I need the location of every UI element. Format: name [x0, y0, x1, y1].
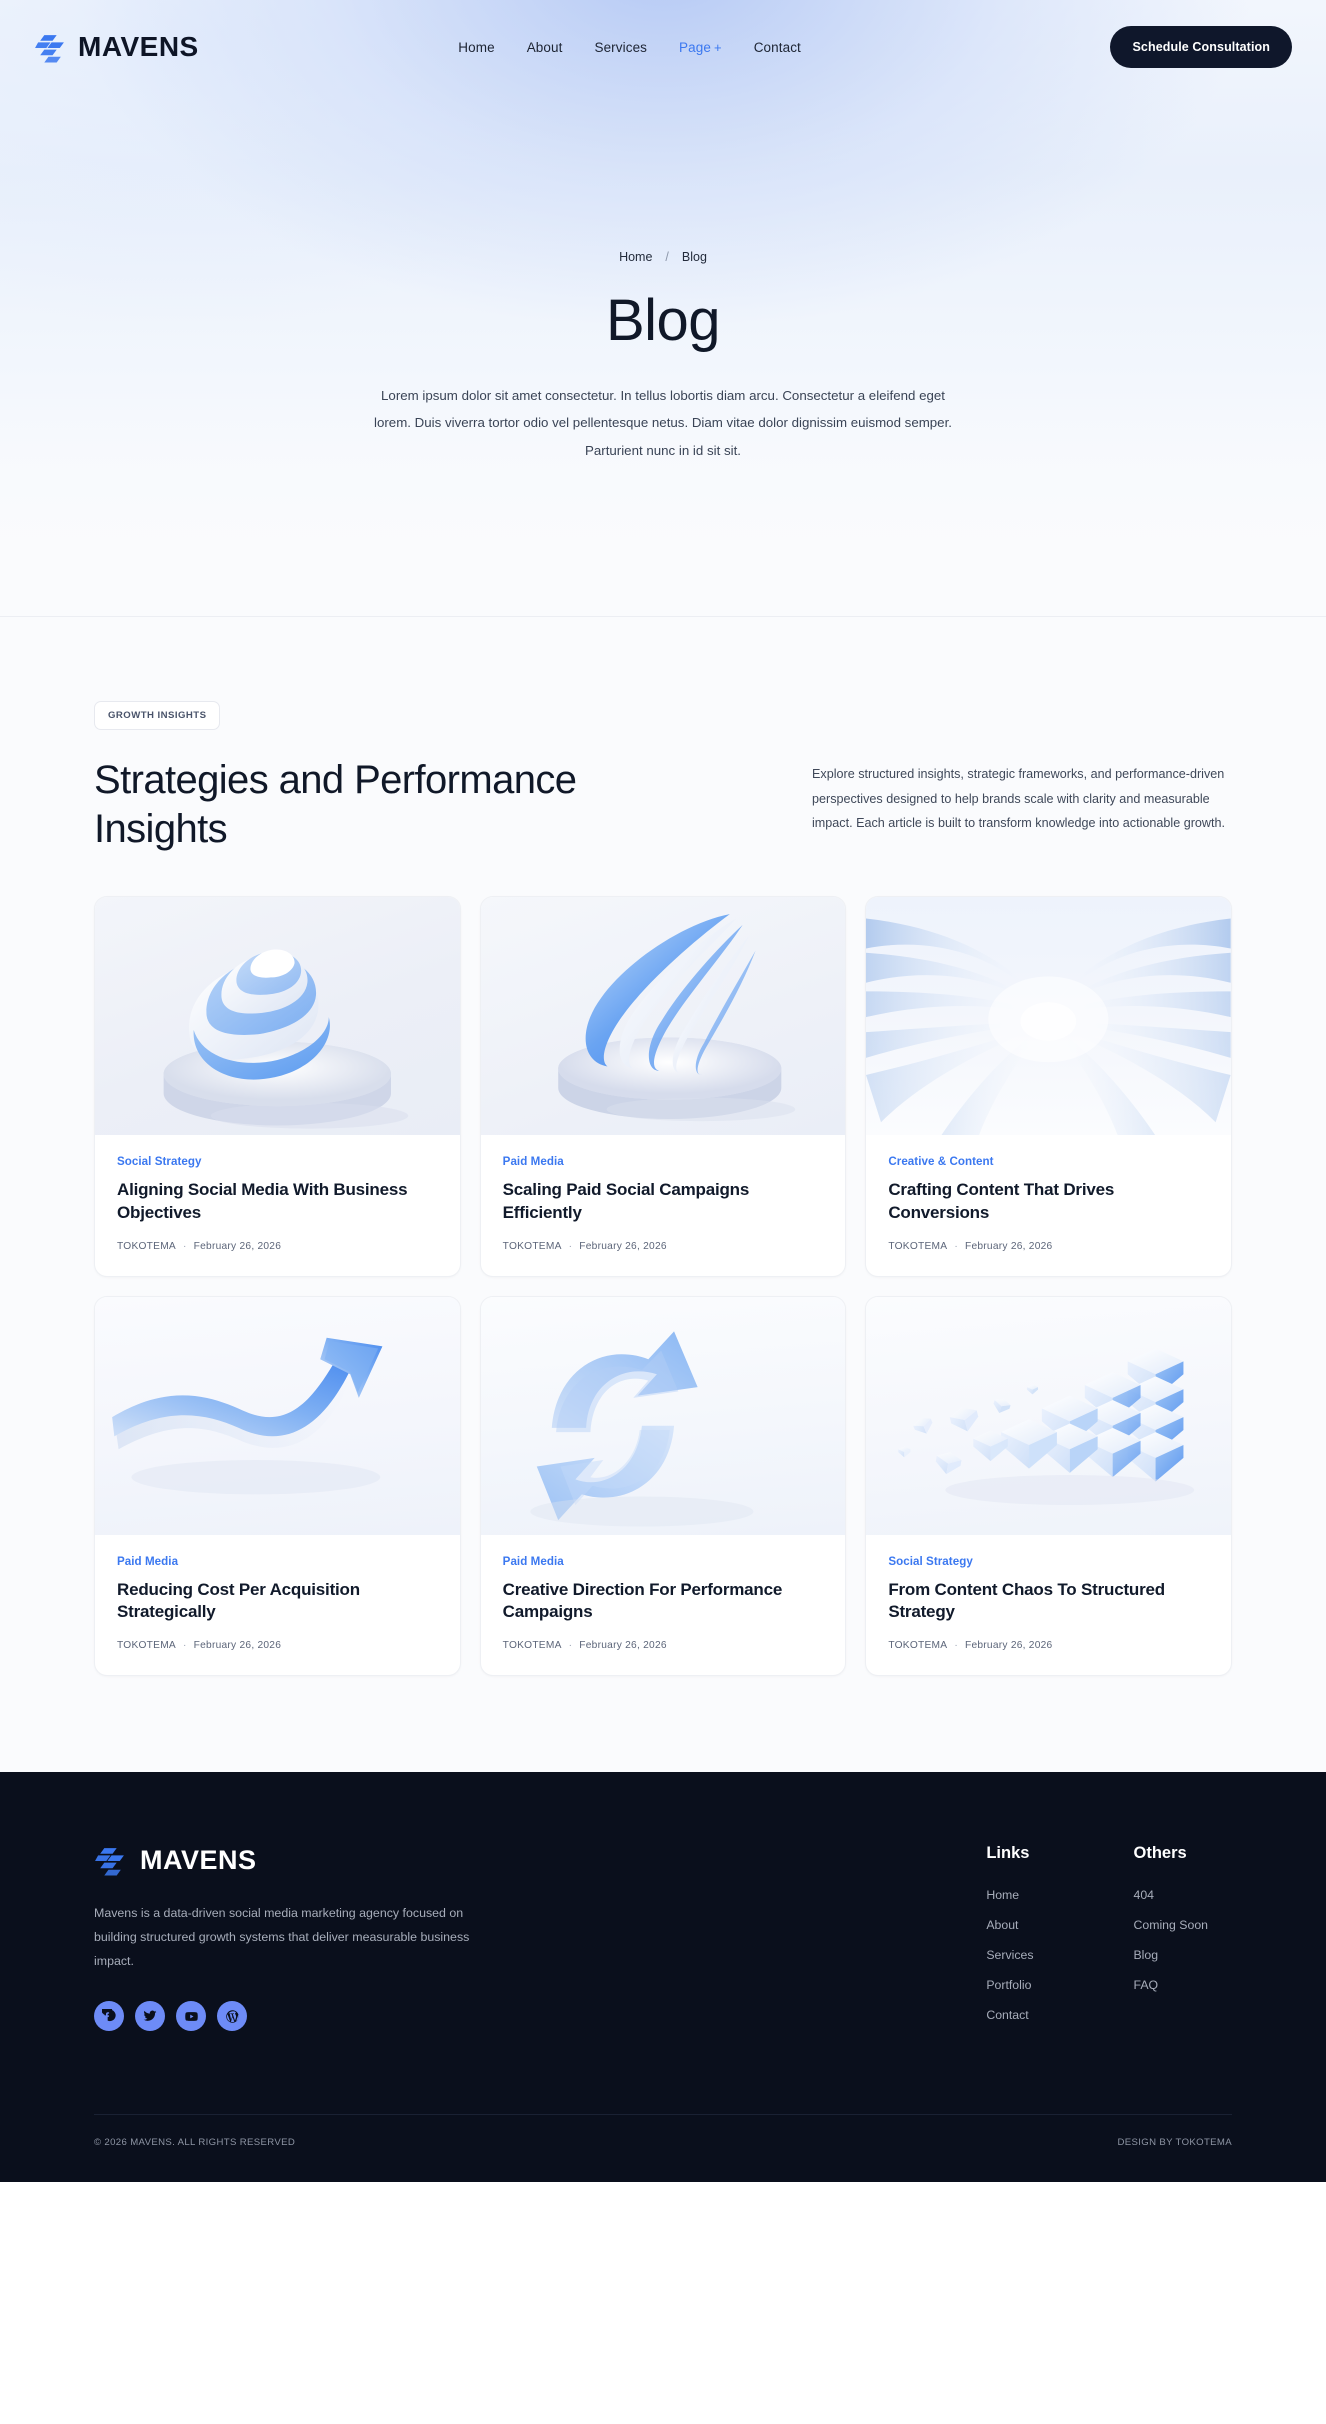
- nav-item-contact[interactable]: Contact: [754, 40, 801, 55]
- wordpress-glyph: [225, 2009, 240, 2024]
- footer-link-portfolio[interactable]: Portfolio: [986, 1978, 1031, 1992]
- card-title: Scaling Paid Social Campaigns Efficientl…: [503, 1179, 824, 1224]
- breadcrumb-separator: /: [665, 250, 668, 264]
- nav-item-page[interactable]: Page+: [679, 40, 722, 55]
- card-category: Paid Media: [503, 1555, 824, 1568]
- social-links: [94, 2001, 482, 2031]
- site-footer: MAVENS Mavens is a data-driven social me…: [0, 1772, 1326, 2182]
- card-author: TOKOTEMA: [503, 1640, 562, 1651]
- card-body: Social Strategy From Content Chaos To St…: [866, 1535, 1231, 1675]
- mavens-hex-logo-icon: [94, 1844, 127, 1877]
- card-date: February 26, 2026: [965, 1640, 1053, 1651]
- card-category: Social Strategy: [888, 1555, 1209, 1568]
- section-badge: GROWTH INSIGHTS: [94, 701, 220, 730]
- card-date: February 26, 2026: [194, 1241, 282, 1252]
- footer-link-coming-soon[interactable]: Coming Soon: [1133, 1918, 1208, 1932]
- card-author: TOKOTEMA: [117, 1640, 176, 1651]
- blog-card[interactable]: Paid Media Creative Direction For Perfor…: [480, 1296, 847, 1676]
- nav-item-services[interactable]: Services: [594, 40, 647, 55]
- footer-link-home[interactable]: Home: [986, 1888, 1019, 1902]
- meta-separator-icon: ·: [954, 1241, 958, 1252]
- blog-card[interactable]: Paid Media Reducing Cost Per Acquisition…: [94, 1296, 461, 1676]
- page-root: MAVENS Home About Services Page+ Contact…: [0, 0, 1326, 2182]
- card-body: Paid Media Creative Direction For Perfor…: [481, 1535, 846, 1675]
- plus-icon: +: [714, 40, 722, 55]
- copyright-text: © 2026 MAVENS. ALL RIGHTS RESERVED: [94, 2137, 295, 2148]
- list-item: Coming Soon: [1133, 1916, 1208, 1934]
- card-image-abstract-converging-waves: [866, 897, 1231, 1135]
- design-credit-text: DESIGN BY TOKOTEMA: [1117, 2137, 1232, 2148]
- card-image-swirl-on-podium: [95, 897, 460, 1135]
- footer-top: MAVENS Mavens is a data-driven social me…: [94, 1844, 1232, 2036]
- nav-item-about[interactable]: About: [527, 40, 563, 55]
- footer-link-services[interactable]: Services: [986, 1948, 1033, 1962]
- card-title: Crafting Content That Drives Conversions: [888, 1179, 1209, 1224]
- footer-column-title: Others: [1133, 1844, 1208, 1863]
- card-category: Paid Media: [117, 1555, 438, 1568]
- breadcrumb: Home / Blog: [0, 250, 1326, 264]
- meta-separator-icon: ·: [569, 1640, 573, 1651]
- footer-logo[interactable]: MAVENS: [94, 1844, 482, 1877]
- main-navigation: MAVENS Home About Services Page+ Contact…: [0, 0, 1326, 68]
- nav-item-about-label: About: [527, 40, 563, 55]
- blog-card[interactable]: Social Strategy Aligning Social Media Wi…: [94, 896, 461, 1276]
- swirl-on-podium-illustration: [95, 897, 460, 1135]
- card-meta: TOKOTEMA · February 26, 2026: [503, 1241, 824, 1252]
- footer-link-list: Home About Services Portfolio Contact: [986, 1886, 1033, 2024]
- card-author: TOKOTEMA: [503, 1241, 562, 1252]
- double-s-arrows-illustration: [481, 1297, 846, 1535]
- hero-content: Home / Blog Blog Lorem ipsum dolor sit a…: [0, 68, 1326, 464]
- meta-separator-icon: ·: [569, 1241, 573, 1252]
- card-title: Reducing Cost Per Acquisition Strategica…: [117, 1579, 438, 1624]
- list-item: Portfolio: [986, 1976, 1033, 1994]
- card-image-rising-arrow: [95, 1297, 460, 1535]
- card-image-cube-staircase: [866, 1297, 1231, 1535]
- card-category: Creative & Content: [888, 1155, 1209, 1168]
- brand-logo[interactable]: MAVENS: [34, 31, 199, 64]
- card-date: February 26, 2026: [579, 1241, 667, 1252]
- list-item: Contact: [986, 2006, 1033, 2024]
- mavens-hex-logo-icon: [34, 31, 67, 64]
- meta-separator-icon: ·: [183, 1241, 187, 1252]
- footer-column-links: Links Home About Services Portfolio Cont…: [986, 1844, 1033, 2036]
- card-date: February 26, 2026: [579, 1640, 667, 1651]
- schedule-consultation-button[interactable]: Schedule Consultation: [1110, 26, 1292, 68]
- page-title: Blog: [0, 287, 1326, 354]
- list-item: 404: [1133, 1886, 1208, 1904]
- card-body: Paid Media Reducing Cost Per Acquisition…: [95, 1535, 460, 1675]
- footer-column-others: Others 404 Coming Soon Blog FAQ: [1133, 1844, 1208, 2036]
- ribbon-on-podium-illustration: [481, 897, 846, 1135]
- nav-item-page-label: Page: [679, 40, 711, 55]
- list-item: Blog: [1133, 1946, 1208, 1964]
- list-item: Services: [986, 1946, 1033, 1964]
- wordpress-icon[interactable]: [217, 2001, 247, 2031]
- nav-item-home-label: Home: [458, 40, 494, 55]
- nav-links: Home About Services Page+ Contact: [458, 40, 801, 55]
- card-meta: TOKOTEMA · February 26, 2026: [888, 1241, 1209, 1252]
- breadcrumb-current: Blog: [682, 250, 707, 264]
- nav-item-services-label: Services: [594, 40, 647, 55]
- card-date: February 26, 2026: [965, 1241, 1053, 1252]
- card-title: Creative Direction For Performance Campa…: [503, 1579, 824, 1624]
- footer-link-contact[interactable]: Contact: [986, 2008, 1028, 2022]
- hero-subtitle: Lorem ipsum dolor sit amet consectetur. …: [373, 382, 953, 464]
- blog-card[interactable]: Social Strategy From Content Chaos To St…: [865, 1296, 1232, 1676]
- card-author: TOKOTEMA: [888, 1241, 947, 1252]
- hero-section: MAVENS Home About Services Page+ Contact…: [0, 0, 1326, 617]
- facebook-icon[interactable]: [94, 2001, 124, 2031]
- meta-separator-icon: ·: [183, 1640, 187, 1651]
- youtube-glyph: [184, 2009, 199, 2024]
- blog-card-grid: Social Strategy Aligning Social Media Wi…: [94, 896, 1232, 1675]
- footer-link-faq[interactable]: FAQ: [1133, 1978, 1158, 1992]
- card-image-double-s-arrows: [481, 1297, 846, 1535]
- twitter-glyph: [143, 2009, 157, 2023]
- card-title: From Content Chaos To Structured Strateg…: [888, 1579, 1209, 1624]
- converging-waves-illustration: [866, 897, 1231, 1135]
- card-author: TOKOTEMA: [117, 1241, 176, 1252]
- card-body: Social Strategy Aligning Social Media Wi…: [95, 1135, 460, 1275]
- card-category: Paid Media: [503, 1155, 824, 1168]
- blog-card[interactable]: Paid Media Scaling Paid Social Campaigns…: [480, 896, 847, 1276]
- youtube-icon[interactable]: [176, 2001, 206, 2031]
- footer-brand-name: MAVENS: [140, 1845, 257, 1876]
- blog-card[interactable]: Creative & Content Crafting Content That…: [865, 896, 1232, 1276]
- cube-staircase-illustration: [866, 1297, 1231, 1535]
- footer-link-404[interactable]: 404: [1133, 1888, 1154, 1902]
- footer-link-list: 404 Coming Soon Blog FAQ: [1133, 1886, 1208, 1994]
- card-date: February 26, 2026: [194, 1640, 282, 1651]
- list-item: About: [986, 1916, 1033, 1934]
- card-meta: TOKOTEMA · February 26, 2026: [503, 1640, 824, 1651]
- breadcrumb-home[interactable]: Home: [619, 250, 652, 264]
- card-body: Creative & Content Crafting Content That…: [866, 1135, 1231, 1275]
- card-title: Aligning Social Media With Business Obje…: [117, 1179, 438, 1224]
- brand-name: MAVENS: [78, 31, 199, 63]
- card-category: Social Strategy: [117, 1155, 438, 1168]
- footer-bottom-bar: © 2026 MAVENS. ALL RIGHTS RESERVED DESIG…: [94, 2114, 1232, 2182]
- facebook-glyph: [102, 2009, 117, 2024]
- meta-separator-icon: ·: [954, 1640, 958, 1651]
- section-heading: Strategies and Performance Insights: [94, 756, 614, 854]
- blog-section: GROWTH INSIGHTS Strategies and Performan…: [0, 617, 1326, 1772]
- card-meta: TOKOTEMA · February 26, 2026: [888, 1640, 1209, 1651]
- list-item: FAQ: [1133, 1976, 1208, 1994]
- nav-item-home[interactable]: Home: [458, 40, 494, 55]
- rising-arrow-illustration: [95, 1297, 460, 1535]
- list-item: Home: [986, 1886, 1033, 1904]
- footer-link-columns: Links Home About Services Portfolio Cont…: [986, 1844, 1232, 2036]
- footer-description: Mavens is a data-driven social media mar…: [94, 1901, 482, 1974]
- footer-column-title: Links: [986, 1844, 1033, 1863]
- card-meta: TOKOTEMA · February 26, 2026: [117, 1241, 438, 1252]
- twitter-icon[interactable]: [135, 2001, 165, 2031]
- section-header: Strategies and Performance Insights Expl…: [94, 756, 1232, 854]
- footer-brand-block: MAVENS Mavens is a data-driven social me…: [94, 1844, 482, 2036]
- nav-item-contact-label: Contact: [754, 40, 801, 55]
- footer-link-about[interactable]: About: [986, 1918, 1018, 1932]
- section-description: Explore structured insights, strategic f…: [812, 762, 1232, 836]
- card-body: Paid Media Scaling Paid Social Campaigns…: [481, 1135, 846, 1275]
- card-meta: TOKOTEMA · February 26, 2026: [117, 1640, 438, 1651]
- card-author: TOKOTEMA: [888, 1640, 947, 1651]
- card-image-ribbon-on-podium: [481, 897, 846, 1135]
- footer-link-blog[interactable]: Blog: [1133, 1948, 1158, 1962]
